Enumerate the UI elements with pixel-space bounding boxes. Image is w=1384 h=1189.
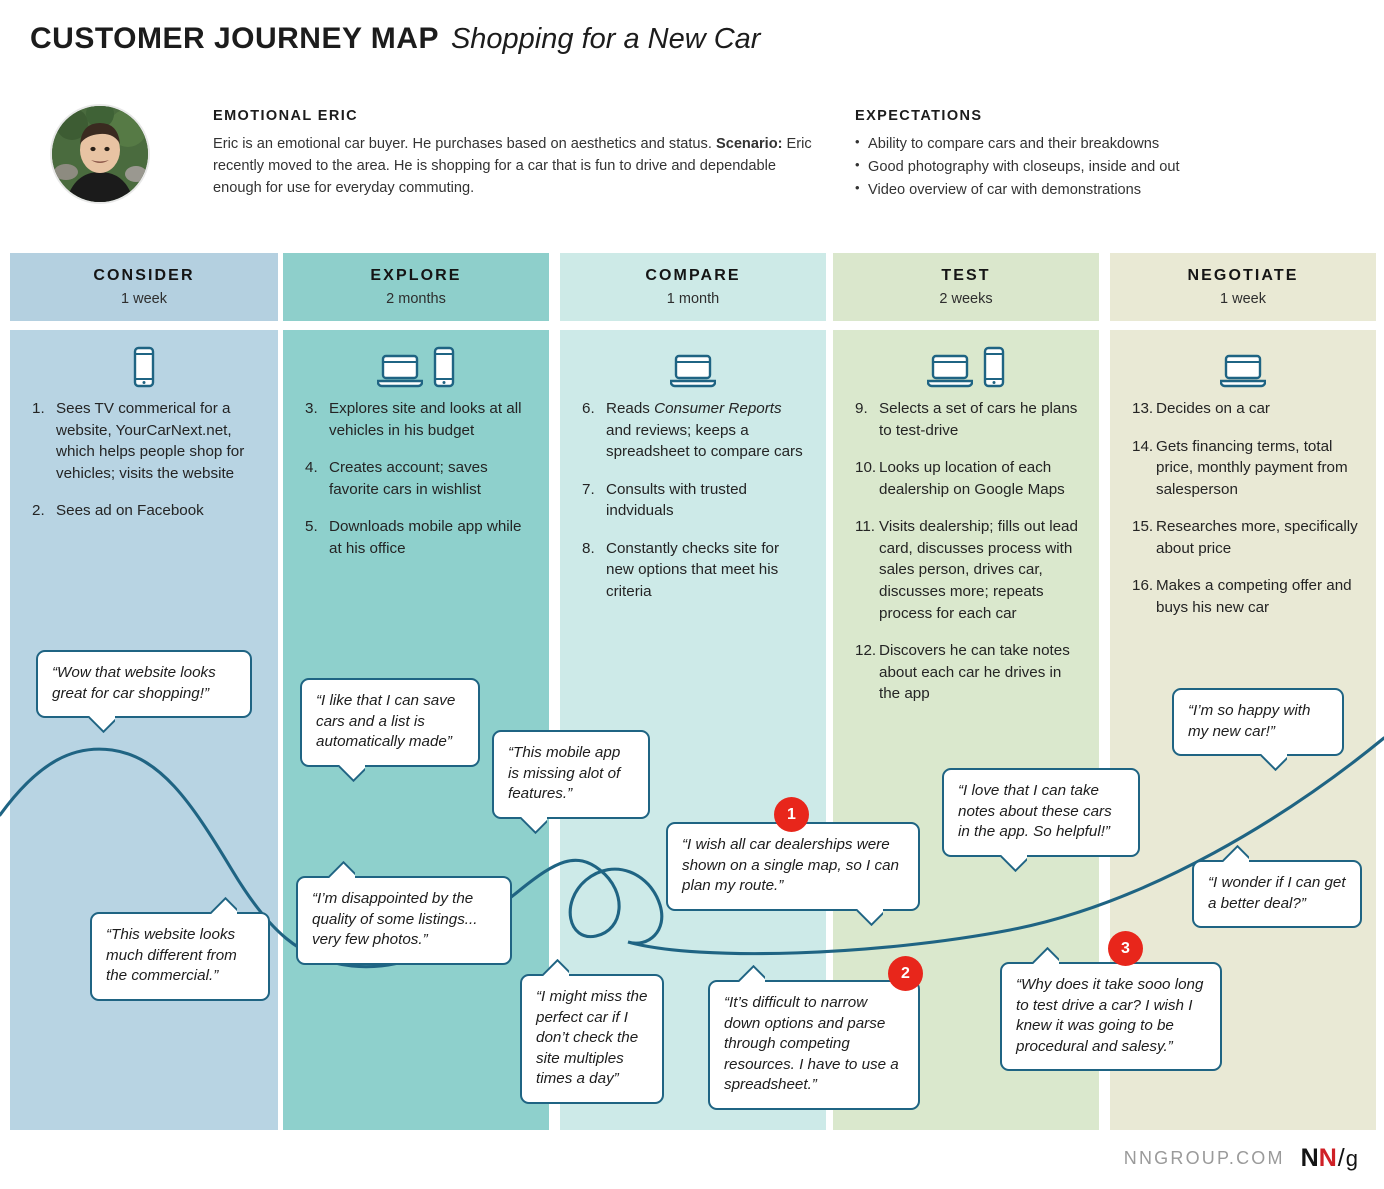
quote-text: “I wonder if I can get a better deal?” (1208, 874, 1346, 912)
stage-header-test[interactable]: TEST2 weeks (833, 253, 1099, 321)
nng-logo: NN/g (1301, 1144, 1358, 1173)
persona-line1: Eric is an emotional car buyer. He purch… (213, 136, 712, 152)
quote-bubble: “I might miss the perfect car if I don’t… (520, 974, 664, 1104)
quote-bubble: “I’m so happy with my new car!” (1172, 688, 1344, 756)
footer-site-url: NNGROUP.COM (1124, 1148, 1285, 1169)
quote-bubble: “Why does it take sooo long to test driv… (1000, 962, 1222, 1071)
stage-name: COMPARE (645, 267, 740, 285)
stage-duration: 2 months (386, 291, 446, 307)
stage-name: EXPLORE (370, 267, 461, 285)
footer: NNGROUP.COM NN/g (1124, 1144, 1358, 1173)
avatar (50, 104, 150, 204)
logo-g: g (1346, 1146, 1358, 1172)
quote-bubble: “I wonder if I can get a better deal?” (1192, 860, 1362, 928)
title-subtitle: Shopping for a New Car (451, 23, 761, 56)
stage-name: NEGOTIATE (1187, 267, 1298, 285)
bubble-tail (210, 897, 237, 914)
quote-bubble: “I’m disappointed by the quality of some… (296, 876, 512, 965)
stage-name: TEST (941, 267, 990, 285)
bubble-tail (738, 965, 765, 982)
quote-text: “This mobile app is missing alot of feat… (508, 744, 620, 802)
bubble-tail (542, 959, 569, 976)
scenario-label: Scenario: (716, 136, 783, 152)
quote-text: “I’m disappointed by the quality of some… (312, 890, 477, 948)
bubble-tail (1000, 855, 1027, 872)
bubble-tail (328, 861, 355, 878)
quote-bubble: “This website looks much different from … (90, 912, 270, 1001)
bubble-tail (856, 909, 883, 926)
bubble-tail (1222, 845, 1249, 862)
quote-bubble: “I like that I can save cars and a list … (300, 678, 480, 767)
expectation-item: Video overview of car with demonstration… (855, 179, 1325, 202)
stage-name: CONSIDER (93, 267, 194, 285)
bubble-tail (1032, 947, 1059, 964)
stage-header-consider[interactable]: CONSIDER1 week (10, 253, 278, 321)
stage-header-compare[interactable]: COMPARE1 month (560, 253, 826, 321)
persona-description: Eric is an emotional car buyer. He purch… (213, 133, 813, 200)
quote-bubble: “It’s difficult to narrow down options a… (708, 980, 920, 1110)
bubble-tail (88, 716, 115, 733)
pain-point-badge-3[interactable]: 3 (1108, 931, 1143, 966)
page-title: CUSTOMER JOURNEY MAP Shopping for a New … (30, 22, 760, 56)
quote-bubble: “I love that I can take notes about thes… (942, 768, 1140, 857)
quote-text: “I wish all car dealerships were shown o… (682, 836, 899, 894)
persona-heading: EMOTIONAL ERIC (213, 108, 813, 124)
quote-bubble: “This mobile app is missing alot of feat… (492, 730, 650, 819)
bubble-tail (338, 765, 365, 782)
bubble-tail (1260, 754, 1287, 771)
expectations-block: EXPECTATIONS Ability to compare cars and… (855, 108, 1325, 201)
quote-bubble: “Wow that website looks great for car sh… (36, 650, 252, 718)
logo-slash: / (1338, 1144, 1345, 1173)
quote-text: “I love that I can take notes about thes… (958, 782, 1112, 840)
stage-duration: 1 week (121, 291, 167, 307)
pain-point-badge-2[interactable]: 2 (888, 956, 923, 991)
bubble-tail (520, 817, 547, 834)
stage-header-explore[interactable]: EXPLORE2 months (283, 253, 549, 321)
logo-n-black: N (1301, 1144, 1319, 1173)
stage-duration: 2 weeks (939, 291, 992, 307)
stage-duration: 1 month (667, 291, 719, 307)
pain-point-badge-1[interactable]: 1 (774, 797, 809, 832)
expectations-list: Ability to compare cars and their breakd… (855, 133, 1325, 201)
quote-text: “This website looks much different from … (106, 926, 237, 984)
logo-n-red: N (1319, 1144, 1337, 1173)
quote-text: “I like that I can save cars and a list … (316, 692, 455, 750)
title-main: CUSTOMER JOURNEY MAP (30, 22, 439, 56)
quote-bubble: “I wish all car dealerships were shown o… (666, 822, 920, 911)
quote-text: “Wow that website looks great for car sh… (52, 664, 216, 702)
quote-text: “It’s difficult to narrow down options a… (724, 994, 899, 1093)
quote-text: “Why does it take sooo long to test driv… (1016, 976, 1203, 1055)
expectations-heading: EXPECTATIONS (855, 108, 1325, 124)
expectation-item: Good photography with closeups, inside a… (855, 156, 1325, 179)
quote-text: “I’m so happy with my new car!” (1188, 702, 1310, 740)
persona-block: EMOTIONAL ERIC Eric is an emotional car … (213, 108, 813, 200)
stage-header-negotiate[interactable]: NEGOTIATE1 week (1110, 253, 1376, 321)
expectation-item: Ability to compare cars and their breakd… (855, 133, 1325, 156)
stage-duration: 1 week (1220, 291, 1266, 307)
quote-text: “I might miss the perfect car if I don’t… (536, 988, 647, 1087)
